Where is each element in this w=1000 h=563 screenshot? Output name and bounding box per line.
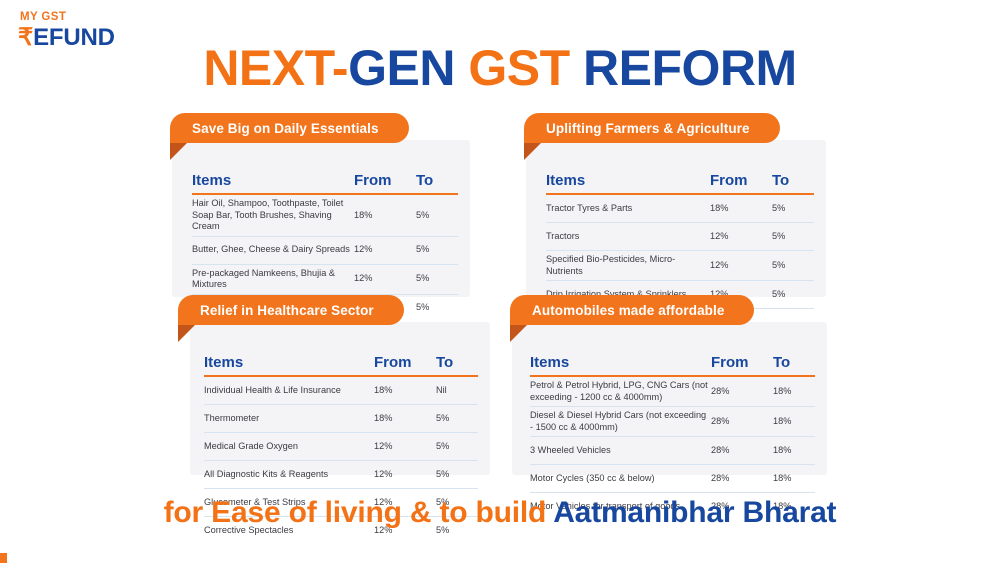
card-heading-text: Uplifting Farmers & Agriculture [546,121,750,136]
column-header-to: To [436,354,478,371]
cell-item: Thermometer [204,413,374,425]
table-header-row: Items From To [192,172,458,195]
card-daily-essentials: Save Big on Daily Essentials Items From … [172,140,470,297]
table-row: Hair Oil, Shampoo, Toothpaste, Toilet So… [192,195,458,237]
cell-from: 28% [711,473,773,485]
page-title: NEXT-GEN GST REFORM [0,42,1000,95]
column-header-to: To [773,354,815,371]
ribbon-fold-shape [170,143,187,160]
cell-item: Tractor Tyres & Parts [546,203,710,215]
cell-to: 5% [772,289,814,301]
card-automobiles: Automobiles made affordable Items From T… [512,322,827,475]
cell-item: Diesel & Diesel Hybrid Cars (not exceedi… [530,410,711,433]
column-header-from: From [711,354,773,371]
cell-from: 12% [710,231,772,243]
table-row: Diesel & Diesel Hybrid Cars (not exceedi… [530,407,815,437]
card-farmers-agriculture: Uplifting Farmers & Agriculture Items Fr… [526,140,826,297]
table-row: All Diagnostic Kits & Reagents 12% 5% [204,461,478,489]
table-row: Motor Cycles (350 cc & below) 28% 18% [530,465,815,493]
cell-from: 28% [711,416,773,428]
card-header-wrap-daily-essentials: Save Big on Daily Essentials [158,125,409,143]
column-header-to: To [416,172,458,189]
card-header-automobiles: Automobiles made affordable [510,295,754,325]
cell-item: Individual Health & Life Insurance [204,385,374,397]
cell-item: Motor Cycles (350 cc & below) [530,473,711,485]
table-header-row: Items From To [530,354,815,377]
table-row: 3 Wheeled Vehicles 28% 18% [530,437,815,465]
cell-to: 5% [416,273,458,285]
table-row: Tractors 12% 5% [546,223,814,251]
cell-to: 18% [773,445,815,457]
cell-to: 5% [772,231,814,243]
infographic-canvas: MY GST ₹EFUND NEXT-GEN GST REFORM Save B… [0,0,1000,563]
tagline-blue-text: Aatmanibhar Bharat [553,496,836,529]
column-header-from: From [354,172,416,189]
footer-tagline: for Ease of living & to build Aatmanibha… [0,496,1000,530]
cell-item: Hair Oil, Shampoo, Toothpaste, Toilet So… [192,198,354,233]
card-heading-text: Relief in Healthcare Sector [200,303,374,318]
corner-accent-mark [0,553,7,563]
cell-to: 5% [416,302,458,314]
table-row: Butter, Ghee, Cheese & Dairy Spreads 12%… [192,237,458,265]
ribbon-fold-shape [524,143,541,160]
card-header-healthcare: Relief in Healthcare Sector [178,295,404,325]
cell-item: Specified Bio-Pesticides, Micro-Nutrient… [546,254,710,277]
column-header-items: Items [192,172,354,189]
table-row: Pre-packaged Namkeens, Bhujia & Mixtures… [192,265,458,295]
table-header-row: Items From To [546,172,814,195]
cell-item: All Diagnostic Kits & Reagents [204,469,374,481]
ribbon-fold-shape [510,325,527,342]
cell-to: 5% [416,210,458,222]
card-header-wrap-farmers-agriculture: Uplifting Farmers & Agriculture [512,125,780,143]
column-header-items: Items [546,172,710,189]
column-header-from: From [374,354,436,371]
cell-to: 18% [773,473,815,485]
table-row: Specified Bio-Pesticides, Micro-Nutrient… [546,251,814,281]
cell-to: 5% [436,469,478,481]
cell-from: 18% [374,385,436,397]
cell-item: 3 Wheeled Vehicles [530,445,711,457]
table-row: Petrol & Petrol Hybrid, LPG, CNG Cars (n… [530,377,815,407]
cell-from: 18% [354,210,416,222]
card-header-farmers-agriculture: Uplifting Farmers & Agriculture [524,113,780,143]
column-header-items: Items [530,354,711,371]
cell-from: 12% [374,469,436,481]
cell-to: 18% [773,386,815,398]
cell-item: Medical Grade Oxygen [204,441,374,453]
cell-from: 28% [711,386,773,398]
cell-item: Butter, Ghee, Cheese & Dairy Spreads [192,244,354,256]
cell-to: 5% [436,441,478,453]
logo-tagline: MY GST [20,12,115,24]
column-header-items: Items [204,354,374,371]
cell-to: Nil [436,385,478,397]
card-heading-text: Automobiles made affordable [532,303,724,318]
cell-to: 5% [416,244,458,256]
title-segment-gst: GST [468,40,583,96]
title-segment-next: NEXT- [203,40,348,96]
title-segment-gen: GEN [348,40,468,96]
cell-to: 5% [436,413,478,425]
cell-to: 18% [773,416,815,428]
card-header-wrap-healthcare: Relief in Healthcare Sector [166,307,404,325]
ribbon-fold-shape [178,325,195,342]
column-header-to: To [772,172,814,189]
table-row: Thermometer 18% 5% [204,405,478,433]
tagline-orange-text: for Ease of living & to build [164,496,554,529]
table-row: Tractor Tyres & Parts 18% 5% [546,195,814,223]
cell-item: Pre-packaged Namkeens, Bhujia & Mixtures [192,268,354,291]
cell-from: 18% [710,203,772,215]
cell-from: 18% [374,413,436,425]
card-healthcare: Relief in Healthcare Sector Items From T… [190,322,490,475]
table-header-row: Items From To [204,354,478,377]
column-header-from: From [710,172,772,189]
table-row: Medical Grade Oxygen 12% 5% [204,433,478,461]
cell-item: Tractors [546,231,710,243]
cell-item: Petrol & Petrol Hybrid, LPG, CNG Cars (n… [530,380,711,403]
cell-to: 5% [772,203,814,215]
cell-from: 12% [354,244,416,256]
table-row: Individual Health & Life Insurance 18% N… [204,377,478,405]
cell-from: 12% [710,260,772,272]
cell-from: 28% [711,445,773,457]
card-header-wrap-automobiles: Automobiles made affordable [498,307,754,325]
card-heading-text: Save Big on Daily Essentials [192,121,379,136]
card-header-daily-essentials: Save Big on Daily Essentials [170,113,409,143]
cell-to: 5% [772,260,814,272]
cell-from: 12% [374,441,436,453]
cell-from: 12% [354,273,416,285]
title-segment-reform: REFORM [583,40,797,96]
